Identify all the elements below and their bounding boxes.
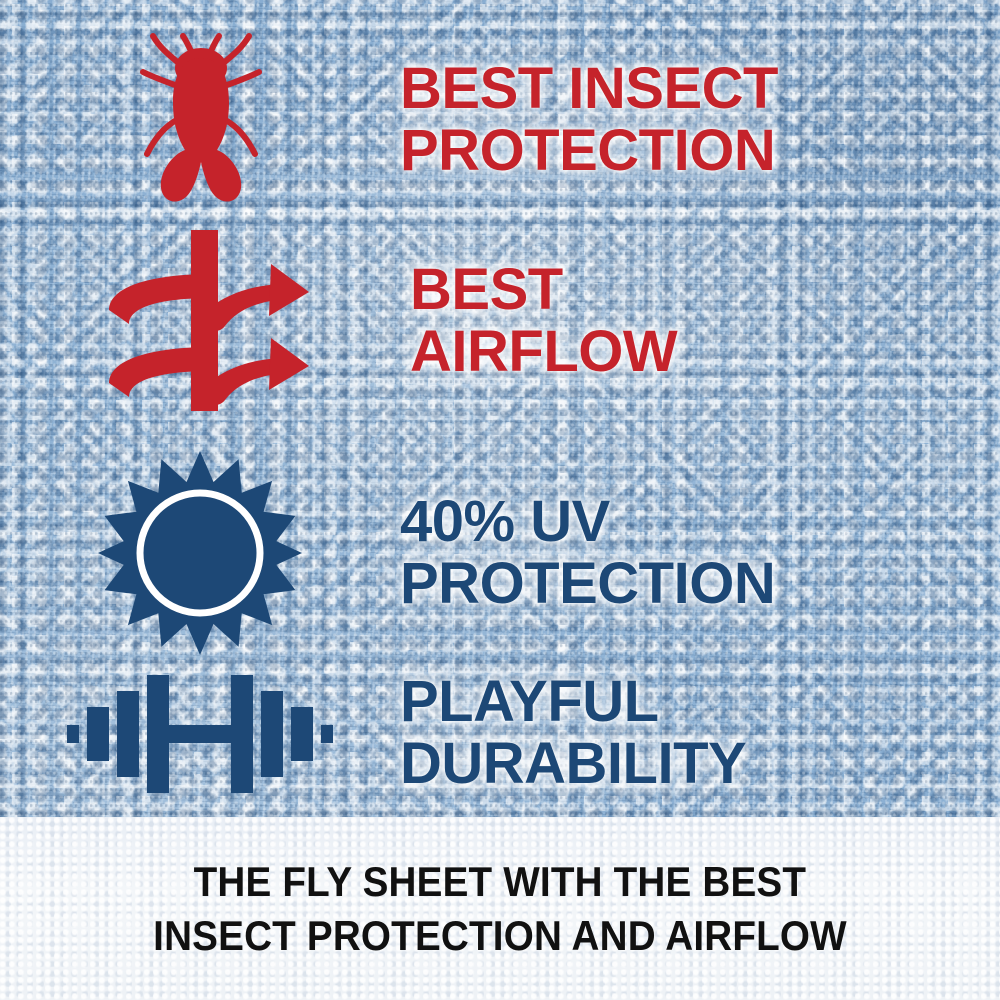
label-line-1: PLAYFUL [400,671,1000,733]
label-line-1: BEST [410,259,1000,321]
label-line-1: 40% UV [400,491,1000,553]
feature-icon-cell [0,30,400,210]
feature-label-cell: 40% UV PROTECTION [400,491,1000,615]
label-line-1: BEST INSECT [400,58,1000,120]
label-line-2: AIRFLOW [410,321,1000,383]
feature-row-durability: PLAYFUL DURABILITY [0,650,1000,815]
feature-label-cell: PLAYFUL DURABILITY [400,671,1000,795]
feature-label-durability: PLAYFUL DURABILITY [400,671,1000,795]
label-line-2: PROTECTION [400,120,1000,182]
caption-line-2: INSECT PROTECTION AND AIRFLOW [153,909,847,963]
feature-icon-cell [0,451,400,656]
label-line-2: DURABILITY [400,733,1000,795]
feature-icon-cell [0,228,410,413]
label-line-2: PROTECTION [400,553,1000,615]
feature-label-insect-protection: BEST INSECT PROTECTION [400,58,1000,182]
product-feature-graphic: BEST INSECT PROTECTION [0,0,1000,1000]
feature-label-cell: BEST AIRFLOW [410,259,1000,383]
caption-line-1: THE FLY SHEET WITH THE BEST [194,855,807,909]
feature-label-cell: BEST INSECT PROTECTION [400,58,1000,182]
feature-label-uv-protection: 40% UV PROTECTION [400,491,1000,615]
airflow-icon [103,228,318,413]
feature-row-airflow: BEST AIRFLOW [0,228,1000,413]
fly-icon [125,30,275,210]
sun-uv-icon [95,451,305,656]
feature-row-uv-protection: 40% UV PROTECTION [0,448,1000,658]
feature-row-insect-protection: BEST INSECT PROTECTION [0,30,1000,210]
bottom-caption-band: THE FLY SHEET WITH THE BEST INSECT PROTE… [0,817,1000,1000]
sun-inner-ring [140,493,260,613]
feature-label-airflow: BEST AIRFLOW [410,259,1000,383]
dumbbell-icon [65,663,335,803]
feature-icon-cell [0,663,400,803]
